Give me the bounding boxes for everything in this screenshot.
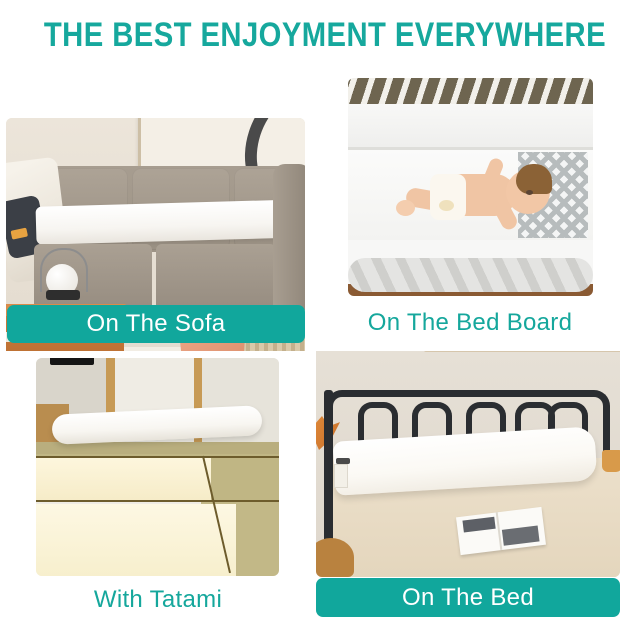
promo-collage: THE BEST ENJOYMENT EVERYWHERE <box>0 0 627 627</box>
tatami-mat-sunlit <box>36 504 236 576</box>
panel-on-the-bed-board: On The Bed Board <box>313 56 627 351</box>
crib-headboard <box>348 104 593 150</box>
wooden-stool <box>316 538 354 577</box>
baby-eye <box>526 190 533 195</box>
pillow-zipper <box>336 458 350 464</box>
baby-diaper <box>430 174 466 220</box>
pillow-tag <box>334 464 348 488</box>
sofa-seat-cushion <box>156 244 276 312</box>
tatami-seam <box>36 456 279 458</box>
bed-post <box>324 390 333 552</box>
page-title: THE BEST ENJOYMENT EVERYWHERE <box>44 18 583 52</box>
photo-on-the-bed <box>316 351 620 577</box>
lamp-base <box>46 290 80 300</box>
white-bolster-pillow <box>36 199 305 245</box>
photo-on-the-bed-board <box>348 78 593 296</box>
tatami-seam <box>36 500 279 502</box>
braided-crib-bumper <box>348 258 593 292</box>
photo-with-tatami <box>36 358 279 576</box>
dark-object <box>50 358 94 365</box>
caption-on-the-sofa: On The Sofa <box>7 305 305 343</box>
panel-on-the-sofa: On The Sofa <box>0 56 313 351</box>
baby-hair <box>516 164 552 194</box>
tatami-mat-sunlit <box>36 458 211 500</box>
caption-on-the-bed: On The Bed <box>316 578 620 617</box>
panel-with-tatami: With Tatami <box>0 351 313 627</box>
baby-foot <box>396 200 415 216</box>
crib-rail <box>348 78 593 104</box>
caption-on-the-bed-board: On The Bed Board <box>335 304 605 342</box>
sofa-armrest <box>273 164 305 316</box>
caption-with-tatami: With Tatami <box>52 581 264 619</box>
cup <box>602 450 620 472</box>
wall-shelf <box>424 351 620 352</box>
panel-on-the-bed: On The Bed <box>313 351 627 627</box>
